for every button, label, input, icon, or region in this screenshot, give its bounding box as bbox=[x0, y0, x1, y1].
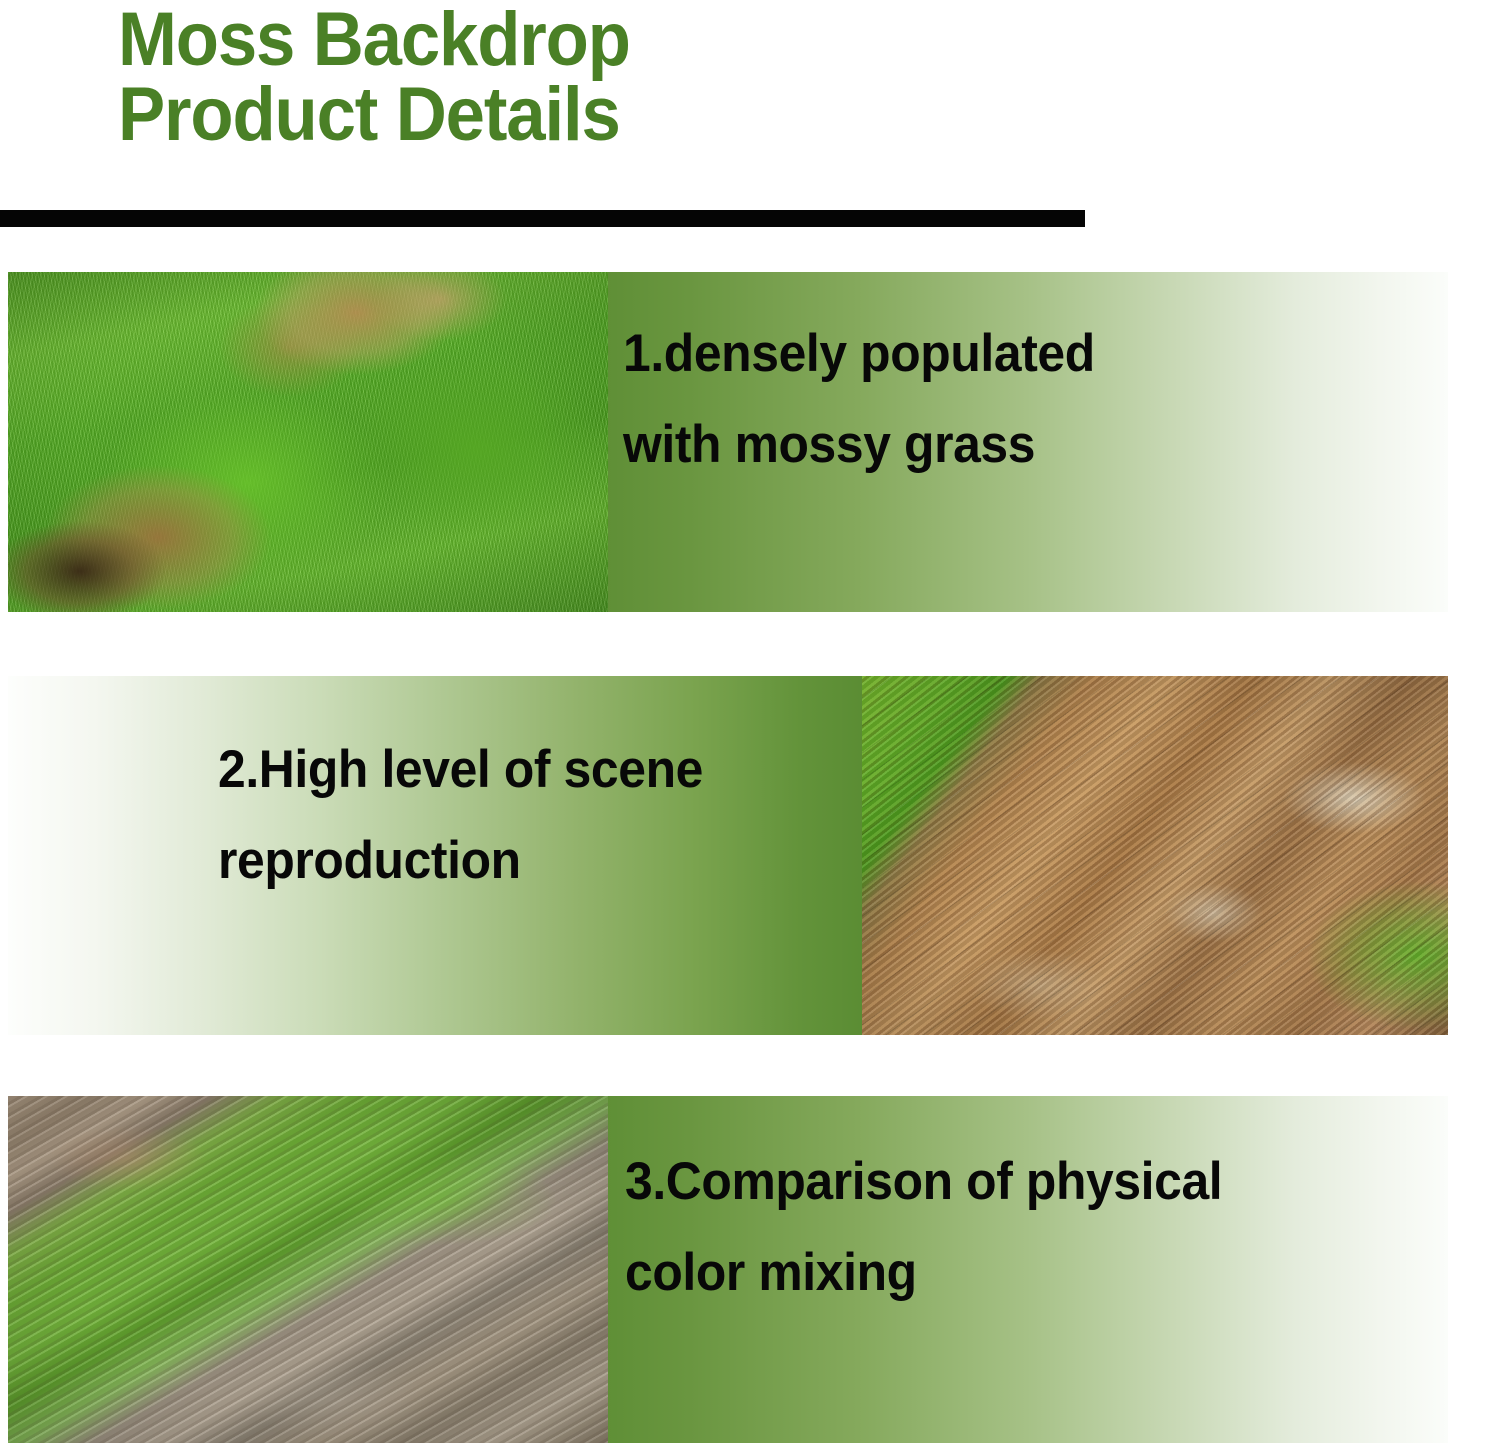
bark-with-moss-photo bbox=[862, 676, 1448, 1035]
feature-3-label: 3.Comparison of physical color mixing bbox=[625, 1136, 1358, 1318]
title-underline-rule bbox=[0, 210, 1085, 227]
page-title: Moss Backdrop Product Details bbox=[118, 2, 1048, 152]
feature-row-3: 3.Comparison of physical color mixing bbox=[8, 1096, 1448, 1443]
moss-on-driftwood-photo bbox=[8, 1096, 608, 1443]
moss-grass-closeup-photo bbox=[8, 272, 608, 612]
feature-2-label: 2.High level of scene reproduction bbox=[218, 724, 857, 906]
feature-3-text-panel: 3.Comparison of physical color mixing bbox=[605, 1096, 1448, 1443]
feature-1-label: 1.densely populated with mossy grass bbox=[623, 308, 1262, 490]
feature-row-2: 2.High level of scene reproduction bbox=[8, 676, 1448, 1035]
feature-row-1: 1.densely populated with mossy grass bbox=[8, 272, 1448, 612]
page-header: Moss Backdrop Product Details bbox=[0, 0, 1490, 230]
photo-vignette bbox=[8, 272, 608, 612]
feature-1-text-panel: 1.densely populated with mossy grass bbox=[605, 272, 1448, 612]
feature-2-text-panel: 2.High level of scene reproduction bbox=[8, 676, 868, 1035]
photo-vignette bbox=[8, 1096, 608, 1443]
photo-vignette bbox=[862, 676, 1448, 1035]
